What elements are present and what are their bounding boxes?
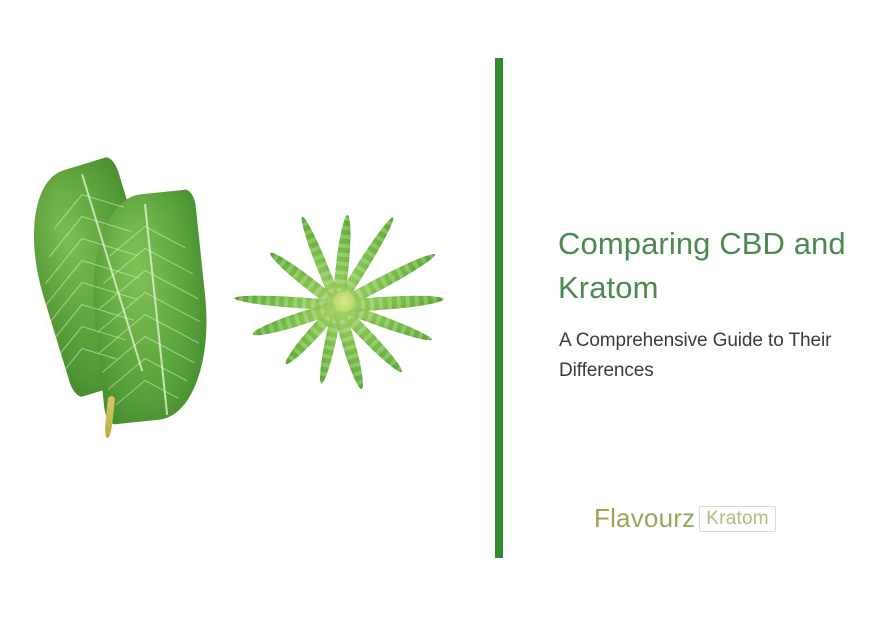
kratom-leaves-image (38, 160, 228, 430)
cannabis-leaf-image (225, 200, 465, 400)
brand-logo-badge: Kratom (699, 506, 775, 532)
vertical-divider (495, 58, 503, 558)
cannabis-leaf-center (333, 292, 355, 312)
page-subtitle: A Comprehensive Guide to Their Differenc… (559, 326, 859, 386)
brand-logo: Flavourz Kratom (594, 503, 776, 534)
content-panel: Comparing CBD and Kratom A Comprehensive… (558, 0, 885, 620)
presentation-slide: Comparing CBD and Kratom A Comprehensive… (0, 0, 885, 620)
page-title: Comparing CBD and Kratom (558, 222, 873, 310)
imagery-panel (0, 0, 495, 620)
brand-logo-wordmark: Flavourz (594, 503, 695, 534)
